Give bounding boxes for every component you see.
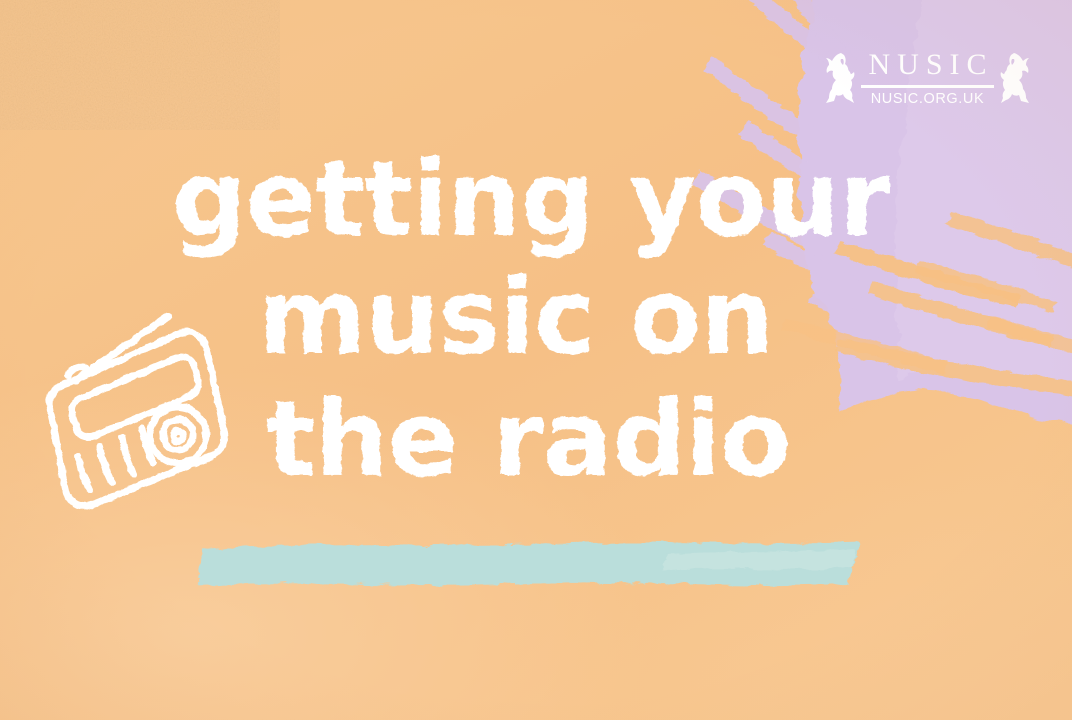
poster-canvas: getting your music on the radio NUSIC NU… bbox=[0, 0, 1072, 720]
heraldic-lion-right-icon bbox=[998, 51, 1032, 105]
logo-url: NUSIC.ORG.UK bbox=[871, 92, 985, 107]
nusic-logo[interactable]: NUSIC NUSIC.ORG.UK bbox=[820, 42, 1035, 114]
heraldic-lion-left-icon bbox=[823, 51, 857, 105]
logo-divider bbox=[861, 85, 993, 88]
logo-wordmark: NUSIC NUSIC.ORG.UK bbox=[861, 50, 993, 106]
logo-name: NUSIC bbox=[861, 50, 993, 80]
